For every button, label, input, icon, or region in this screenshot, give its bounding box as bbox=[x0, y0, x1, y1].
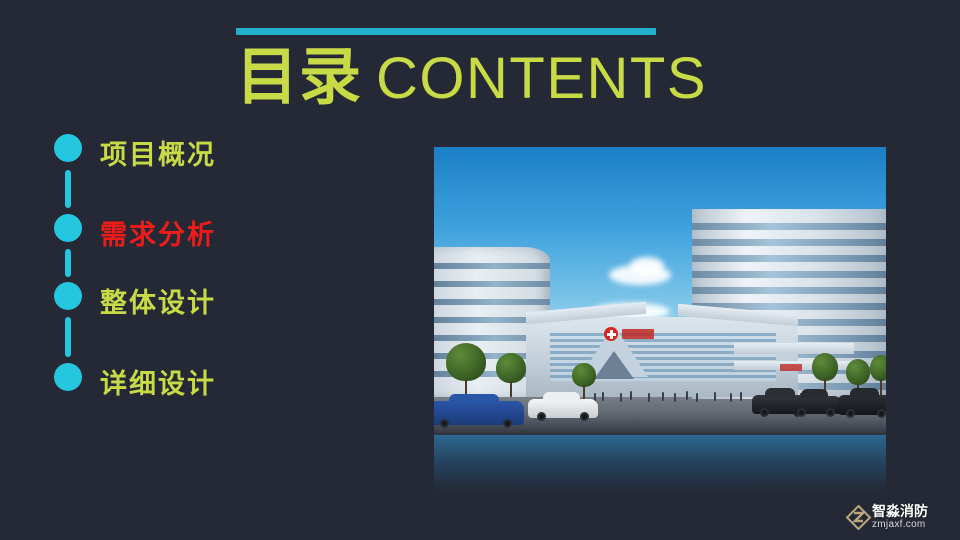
pedestrian bbox=[674, 393, 676, 402]
watermark-text: 智淼消防 zmjaxf.com bbox=[872, 503, 952, 533]
main-entrance-opening bbox=[594, 351, 634, 379]
nav-item-overall-design[interactable]: 整体设计 bbox=[100, 281, 216, 320]
pedestrian bbox=[602, 392, 604, 401]
timeline-connector-1 bbox=[65, 170, 71, 208]
image-reflection bbox=[434, 435, 886, 493]
page-title: 目录CONTENTS bbox=[236, 42, 856, 114]
timeline-node-4[interactable] bbox=[54, 363, 82, 391]
building-signage bbox=[780, 364, 802, 371]
pedestrian bbox=[730, 393, 732, 402]
tree bbox=[496, 353, 526, 397]
central-podium bbox=[526, 317, 798, 397]
timeline-connector-3 bbox=[65, 317, 71, 357]
page-title-en: CONTENTS bbox=[376, 46, 707, 111]
watermark: 智淼消防 zmjaxf.com bbox=[846, 503, 952, 533]
watermark-brand-name: 智淼消防 bbox=[872, 503, 952, 519]
timeline-node-2[interactable] bbox=[54, 214, 82, 242]
rendering-image-block bbox=[434, 147, 886, 435]
car-white bbox=[528, 399, 598, 418]
contents-nav: 项目概况 需求分析 整体设计 详细设计 bbox=[0, 120, 420, 420]
pedestrian bbox=[630, 391, 632, 400]
timeline-node-1[interactable] bbox=[54, 134, 82, 162]
pedestrian bbox=[648, 393, 650, 402]
pedestrian bbox=[696, 393, 698, 402]
nav-item-detailed-design[interactable]: 详细设计 bbox=[100, 362, 216, 401]
pedestrian bbox=[620, 393, 622, 402]
timeline-connector-2 bbox=[65, 249, 71, 277]
tree bbox=[446, 343, 486, 397]
brand-logo-icon bbox=[846, 505, 871, 530]
nav-item-requirements-analysis[interactable]: 需求分析 bbox=[100, 213, 216, 252]
title-underline-rule bbox=[236, 28, 656, 35]
hospital-rendering-image bbox=[434, 147, 886, 435]
building-signage bbox=[622, 329, 654, 339]
pedestrian bbox=[714, 392, 716, 401]
car-dark bbox=[838, 395, 886, 415]
cloud bbox=[630, 257, 664, 275]
car-dark bbox=[790, 396, 842, 414]
timeline-node-3[interactable] bbox=[54, 282, 82, 310]
hospital-cross-icon bbox=[604, 327, 618, 341]
pedestrian bbox=[662, 392, 664, 401]
page-title-cn: 目录 bbox=[236, 43, 362, 112]
timeline-track bbox=[54, 120, 82, 412]
watermark-url: zmjaxf.com bbox=[872, 519, 952, 531]
pedestrian bbox=[686, 391, 688, 400]
pedestrian bbox=[740, 392, 742, 401]
car-blue bbox=[434, 401, 524, 425]
nav-item-project-overview[interactable]: 项目概况 bbox=[100, 133, 216, 172]
